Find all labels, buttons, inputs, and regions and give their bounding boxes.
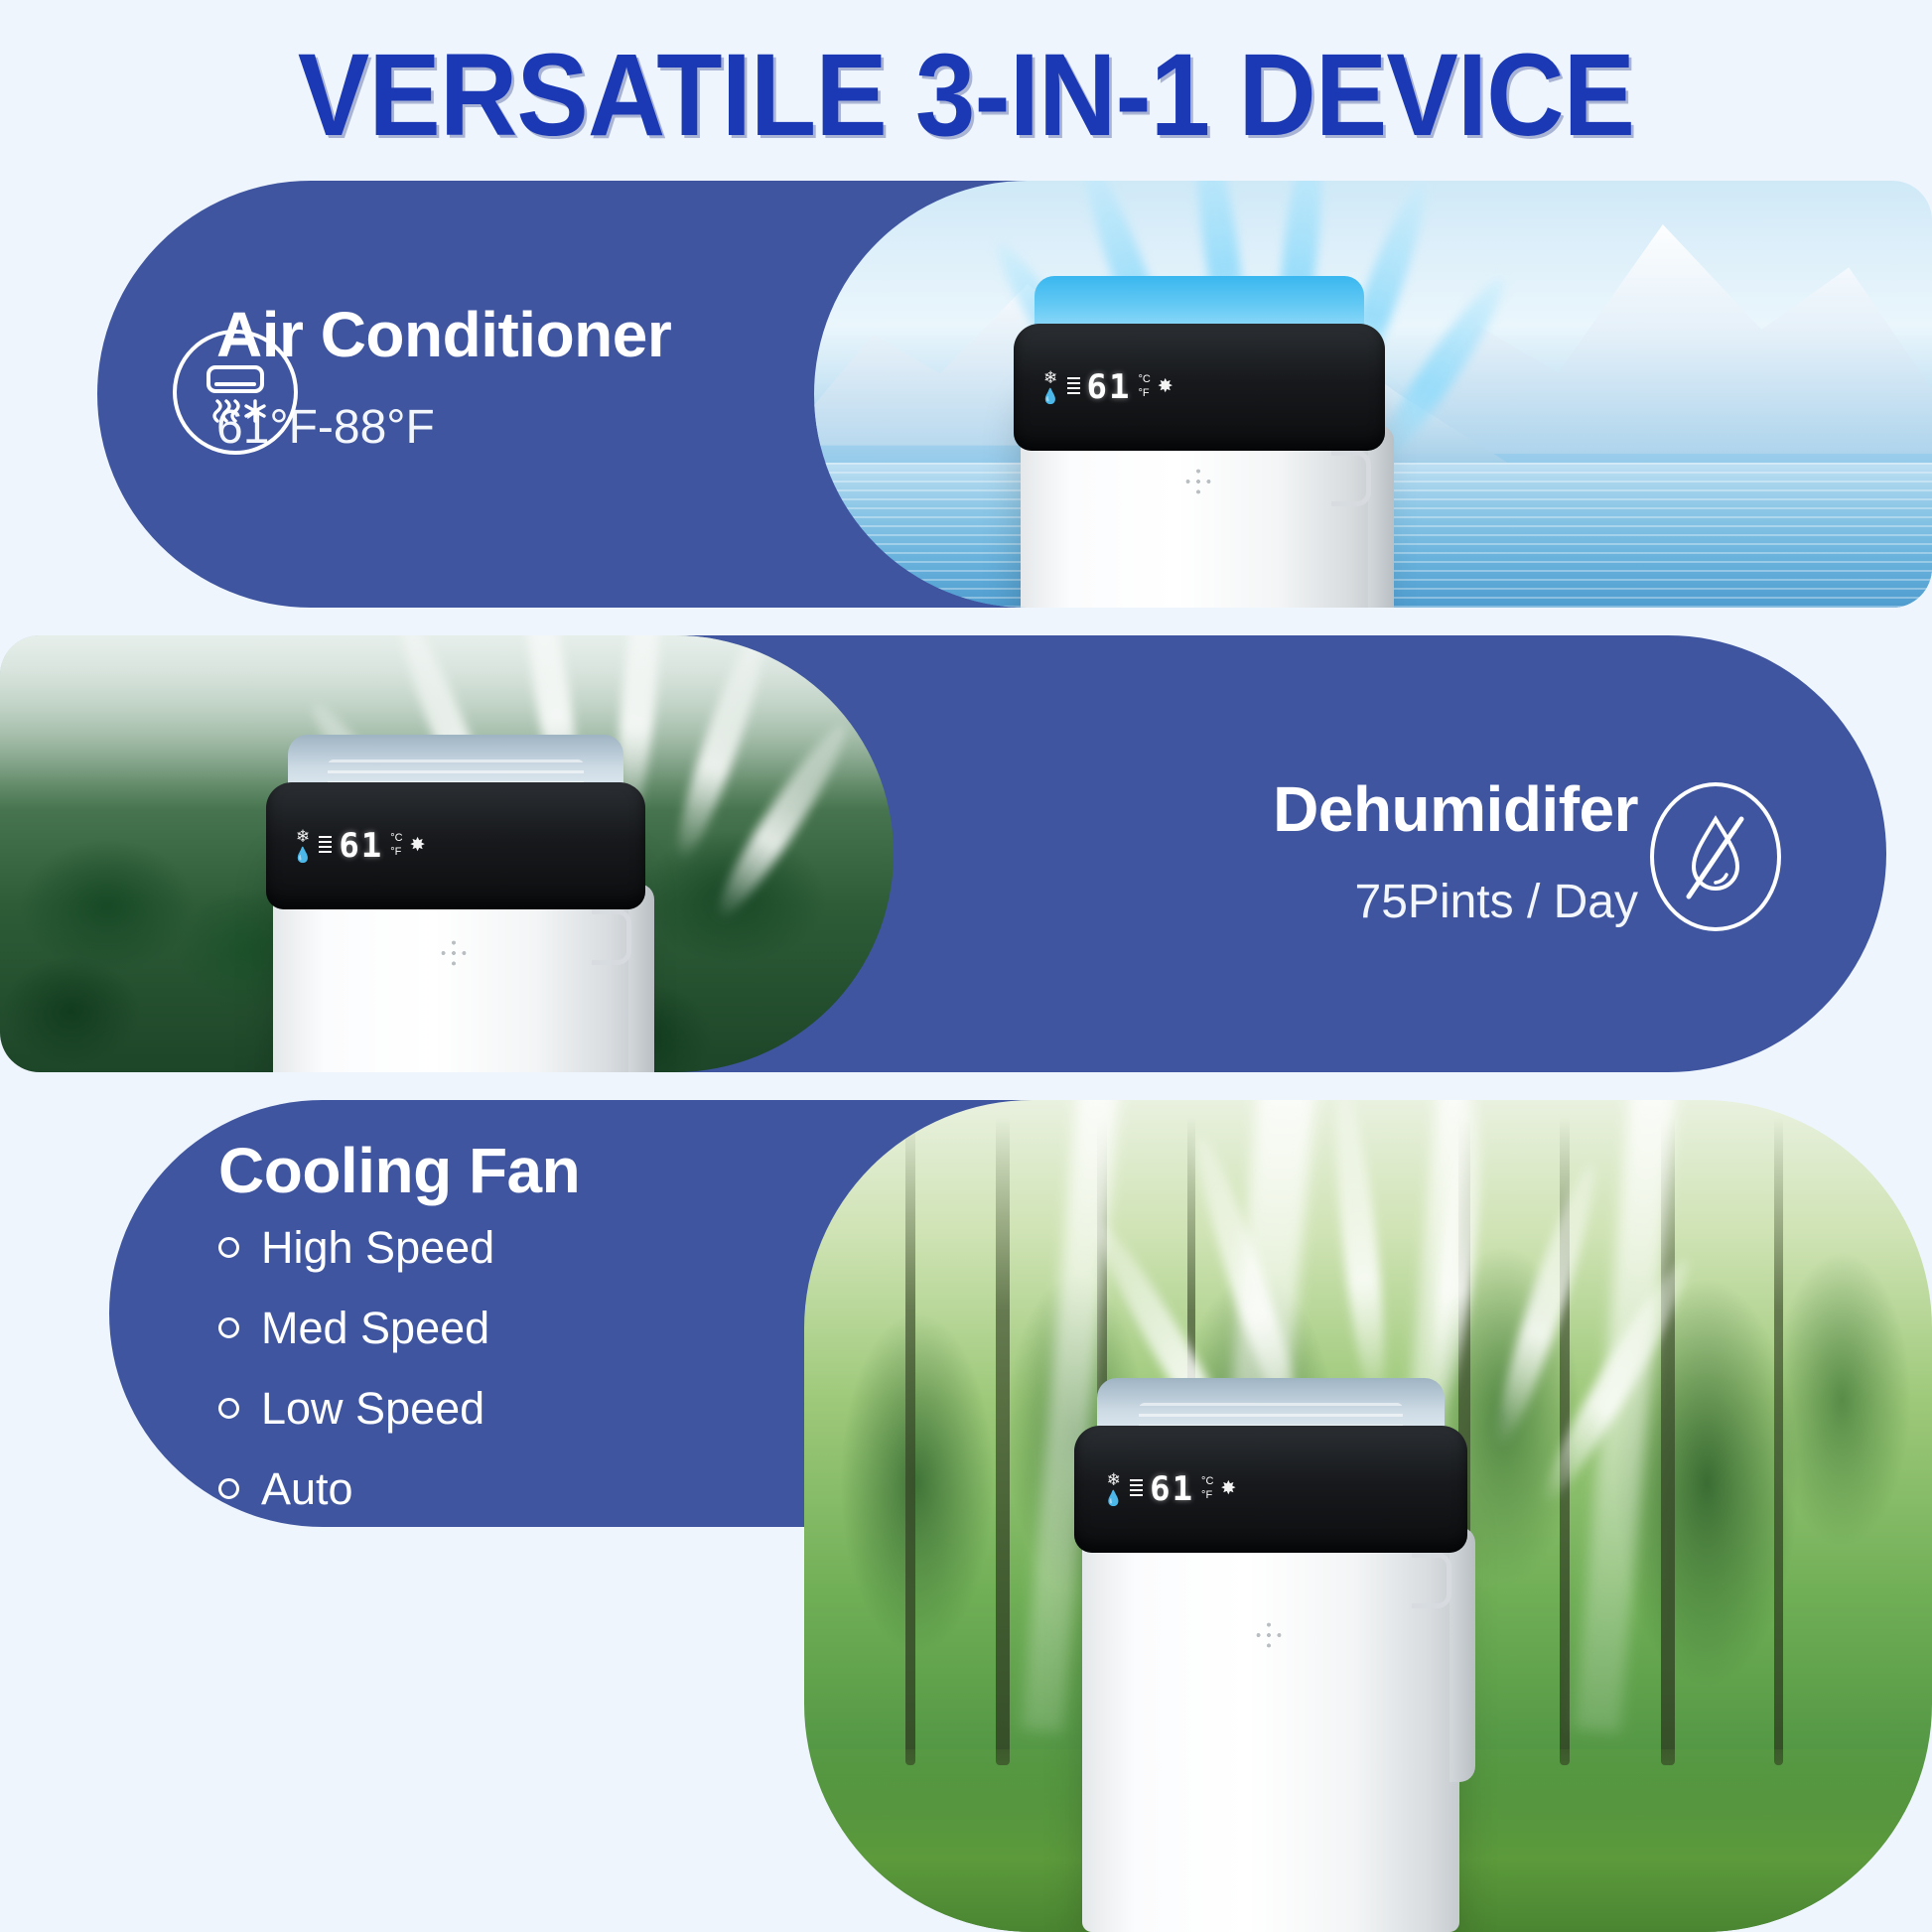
- list-item: Auto: [218, 1466, 580, 1511]
- water-drop-icon: 💧: [1041, 389, 1060, 404]
- unit-led-display: ❄ 💧 61 °C °F ✸: [1041, 369, 1173, 404]
- unit-sensor-dots: [441, 940, 467, 966]
- cooling-fan-photo: ❄ 💧 61 °C °F ✸: [804, 1100, 1932, 1932]
- unit-control-bezel: ❄ 💧 61 °C °F ✸: [266, 782, 646, 909]
- unit-handle: [1412, 1553, 1451, 1608]
- air-conditioner-photo: ❄ 💧 61 °C °F ✸: [814, 181, 1932, 608]
- fan-speed-label: High Speed: [261, 1225, 494, 1270]
- infographic-page: VERSATILE 3-IN-1 DEVICE Air Conditioner …: [0, 0, 1932, 1932]
- dehumidifier-title: Dehumidifer: [884, 774, 1638, 844]
- display-unit-fahrenheit: °F: [1201, 1489, 1213, 1503]
- unit-handle: [592, 909, 631, 965]
- no-water-drop-glyph: [1670, 805, 1761, 908]
- display-unit-celsius: °C: [390, 832, 402, 846]
- bullet-icon: [218, 1317, 239, 1338]
- unit-control-bezel: ❄ 💧 61 °C °F ✸: [1014, 324, 1385, 451]
- display-unit-celsius: °C: [1138, 373, 1150, 387]
- display-mode-icons: ❄ 💧: [1104, 1471, 1123, 1506]
- fan-speed-label: Low Speed: [261, 1386, 484, 1431]
- display-temperature: 61: [339, 829, 383, 863]
- heat-bars-icon: [319, 836, 332, 856]
- unit-side-vent: [1368, 425, 1394, 608]
- display-units: °C °F: [390, 832, 402, 860]
- display-units: °C °F: [1138, 373, 1150, 401]
- air-conditioner-unit: ❄ 💧 61 °C °F ✸: [1021, 276, 1378, 608]
- heat-bars-icon: [1130, 1479, 1143, 1499]
- bullet-icon: [218, 1237, 239, 1258]
- fan-speed-list: High Speed Med Speed Low Speed Auto: [218, 1225, 580, 1511]
- unit-side-vent: [1449, 1527, 1475, 1782]
- dehumidifier-unit: ❄ 💧 61 °C °F ✸: [273, 735, 638, 1072]
- dehumidifier-photo: ❄ 💧 61 °C °F ✸: [0, 635, 894, 1072]
- page-title: VERSATILE 3-IN-1 DEVICE: [77, 28, 1855, 163]
- fan-mode-icon: ✸: [1220, 1479, 1236, 1498]
- water-drop-icon: 💧: [1104, 1491, 1123, 1506]
- cooling-fan-text-block: Cooling Fan High Speed Med Speed Low Spe…: [218, 1136, 580, 1527]
- display-temperature: 61: [1087, 370, 1132, 404]
- bullet-icon: [218, 1478, 239, 1499]
- fan-mode-icon: ✸: [410, 836, 426, 855]
- fan-speed-label: Med Speed: [261, 1306, 489, 1350]
- list-item: High Speed: [218, 1225, 580, 1270]
- display-mode-icons: ❄ 💧: [294, 828, 313, 863]
- unit-control-bezel: ❄ 💧 61 °C °F ✸: [1074, 1426, 1466, 1553]
- unit-handle: [1331, 451, 1371, 506]
- no-water-drop-icon: [1650, 782, 1781, 931]
- unit-led-display: ❄ 💧 61 °C °F ✸: [1104, 1471, 1236, 1506]
- display-unit-fahrenheit: °F: [1138, 387, 1150, 401]
- display-mode-icons: ❄ 💧: [1041, 369, 1060, 404]
- display-unit-celsius: °C: [1201, 1475, 1213, 1489]
- snowflake-icon: ❄: [1107, 1471, 1121, 1488]
- dehumidifier-subtitle: 75Pints / Day: [884, 874, 1638, 931]
- cooling-fan-title: Cooling Fan: [218, 1136, 580, 1205]
- list-item: Med Speed: [218, 1306, 580, 1350]
- fan-mode-icon: ✸: [1158, 377, 1173, 396]
- heat-bars-icon: [1067, 377, 1080, 397]
- fan-speed-label: Auto: [261, 1466, 353, 1511]
- display-units: °C °F: [1201, 1475, 1213, 1503]
- unit-sensor-dots: [1256, 1622, 1282, 1648]
- display-unit-fahrenheit: °F: [390, 846, 402, 860]
- unit-side-vent: [628, 884, 654, 1072]
- snowflake-icon: ❄: [1043, 369, 1057, 386]
- cooling-fan-unit: ❄ 💧 61 °C °F ✸: [1082, 1378, 1459, 1932]
- display-temperature: 61: [1150, 1472, 1194, 1506]
- unit-led-display: ❄ 💧 61 °C °F ✸: [294, 828, 426, 863]
- bullet-icon: [218, 1398, 239, 1419]
- air-conditioner-icon: [173, 330, 298, 455]
- air-conditioner-glyph: [193, 349, 278, 435]
- list-item: Low Speed: [218, 1386, 580, 1431]
- snowflake-icon: ❄: [296, 828, 310, 845]
- unit-sensor-dots: [1185, 469, 1211, 494]
- dehumidifier-text-block: Dehumidifer 75Pints / Day: [884, 774, 1638, 931]
- water-drop-icon: 💧: [294, 848, 313, 863]
